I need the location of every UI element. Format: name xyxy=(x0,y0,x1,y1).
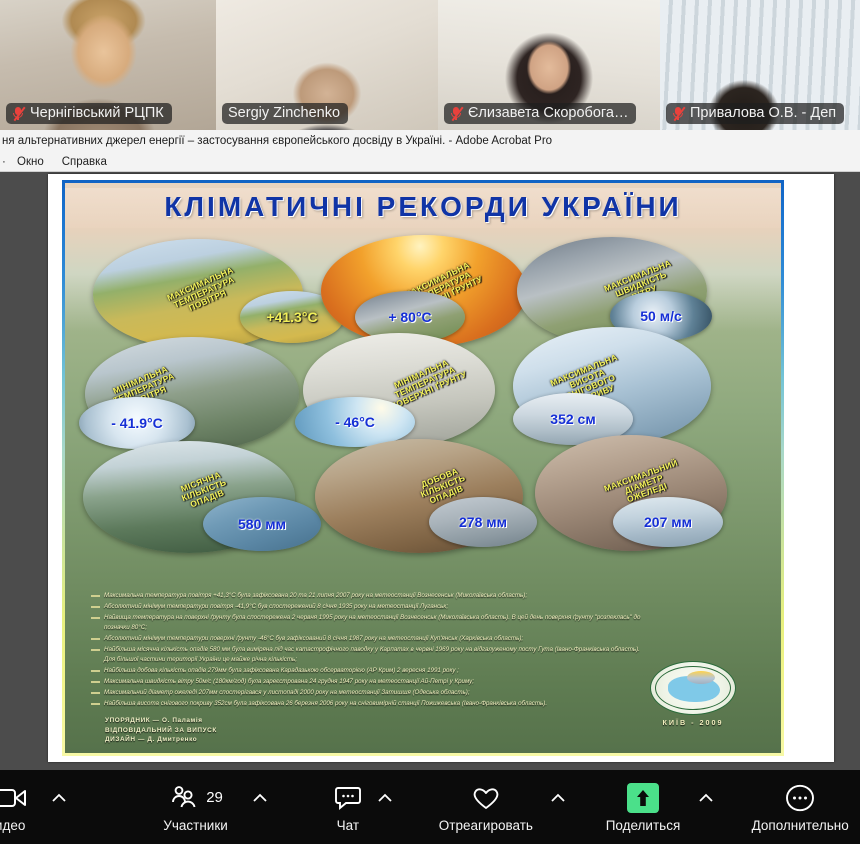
zoom-control-bar: идео 29 Участники Чат xyxy=(0,770,860,844)
participant-tile-2[interactable]: Sergiy Zinchenko xyxy=(216,0,438,130)
toolbar-label-more: Дополнительно xyxy=(752,818,849,833)
credit-line: ДИЗАЙН — Д. Дмитренко xyxy=(105,735,217,745)
acrobat-menu-bar: · Окно Справка xyxy=(0,152,860,172)
bullet-item: Найбільша висота снігового покриву 352см… xyxy=(91,699,651,709)
video-camera-icon xyxy=(0,782,28,814)
toolbar-label-participants: Участники xyxy=(163,818,228,833)
bullet-item: Абсолютний мінімум температури повітря -… xyxy=(91,602,651,612)
menu-item-window[interactable]: Окно xyxy=(8,153,53,171)
participant-video-strip: Чернігівський РЦПК Sergiy Zinchenko Єлиз… xyxy=(0,0,860,130)
bullet-item: Максимальний діаметр ожеледі 207мм спост… xyxy=(91,688,651,698)
record-value-text: + 80°C xyxy=(388,309,431,325)
chevron-up-icon-video[interactable] xyxy=(48,770,69,844)
record-value-text: 50 м/с xyxy=(640,308,682,324)
record-value: 207 мм xyxy=(613,497,723,547)
record-value: 580 мм xyxy=(203,497,321,551)
toolbar-button-share[interactable]: Поделиться xyxy=(591,770,695,844)
bullet-item: Абсолютний мінімум температури поверхні … xyxy=(91,634,651,644)
shared-screen-acrobat: ня альтернативних джерел енергії – засто… xyxy=(0,130,860,770)
participants-count: 29 xyxy=(206,789,223,806)
chevron-up-icon-participants[interactable] xyxy=(250,770,271,844)
records-grid: МАКСИМАЛЬНА ТЕМПЕРАТУРА ПОВІТРЯ +41.3°C … xyxy=(65,229,781,589)
bullet-item: Максимальна температура повітря +41,3°С … xyxy=(91,591,651,601)
participant-name: Єлизавета Скоробога… xyxy=(468,105,628,121)
chat-bubble-icon xyxy=(334,782,362,814)
chevron-up-icon-react[interactable] xyxy=(548,770,569,844)
poster-frame: КЛІМАТИЧНІ РЕКОРДИ УКРАЇНИ МАКСИМАЛЬНА Т… xyxy=(62,180,784,756)
poster-credits: УПОРЯДНИК — О. Паламія ВІДПОВІДАЛЬНИЙ ЗА… xyxy=(105,716,217,745)
microphone-muted-icon xyxy=(450,106,463,121)
participant-tile-3[interactable]: Єлизавета Скоробога… xyxy=(438,0,660,130)
credit-line: ВІДПОВІДАЛЬНИЙ ЗА ВИПУСК xyxy=(105,726,217,736)
toolbar-label-video: идео xyxy=(0,818,25,833)
participant-name-badge: Чернігівський РЦПК xyxy=(6,103,172,124)
participant-name: Привалова О.В. - Деп xyxy=(690,105,836,121)
microphone-muted-icon xyxy=(12,106,25,121)
chevron-up-icon-share[interactable] xyxy=(695,770,716,844)
publisher-logo-block: КИЇВ - 2009 xyxy=(649,661,737,727)
participant-name-badge: Sergiy Zinchenko xyxy=(222,103,348,124)
participant-name-badge: Єлизавета Скоробога… xyxy=(444,103,636,124)
record-value-text: 580 мм xyxy=(238,516,286,532)
chevron-up-icon-chat[interactable] xyxy=(375,770,396,844)
participant-tile-4[interactable]: Привалова О.В. - Деп xyxy=(660,0,860,130)
ellipsis-icon xyxy=(785,782,815,814)
hydrometeorological-center-logo-icon xyxy=(650,661,736,715)
toolbar-button-video[interactable]: идео xyxy=(0,770,34,844)
toolbar-label-react: Отреагировать xyxy=(439,818,533,833)
records-bullet-list: Максимальна температура повітря +41,3°С … xyxy=(91,591,651,711)
bullet-item: Максимальна швидкість вітру 50м/с (180км… xyxy=(91,677,651,687)
participant-name-badge: Привалова О.В. - Деп xyxy=(666,103,844,124)
toolbar-button-more[interactable]: Дополнительно xyxy=(740,770,860,844)
zoom-meeting-window: Чернігівський РЦПК Sergiy Zinchenko Єлиз… xyxy=(0,0,860,844)
people-icon: 29 xyxy=(168,782,223,814)
toolbar-button-chat[interactable]: Чат xyxy=(321,770,375,844)
toolbar-label-chat: Чат xyxy=(337,818,359,833)
share-up-arrow-icon xyxy=(627,782,659,814)
poster-content: КЛІМАТИЧНІ РЕКОРДИ УКРАЇНИ МАКСИМАЛЬНА Т… xyxy=(65,183,781,753)
pdf-document-area[interactable]: КЛІМАТИЧНІ РЕКОРДИ УКРАЇНИ МАКСИМАЛЬНА Т… xyxy=(0,172,860,770)
record-value-text: +41.3°C xyxy=(266,309,317,325)
record-value-text: 352 см xyxy=(550,411,595,427)
record-value-text: 278 мм xyxy=(459,514,507,530)
logo-caption: КИЇВ - 2009 xyxy=(649,718,737,727)
menu-item-help[interactable]: Справка xyxy=(53,153,116,171)
acrobat-title-bar: ня альтернативних джерел енергії – засто… xyxy=(0,130,860,152)
poster-title: КЛІМАТИЧНІ РЕКОРДИ УКРАЇНИ xyxy=(65,188,781,228)
participant-name: Чернігівський РЦПК xyxy=(30,105,164,121)
bullet-item: Найбільша добова кількість опадів 279мм … xyxy=(91,666,651,676)
record-value-text: 207 мм xyxy=(644,514,692,530)
heart-icon xyxy=(471,782,501,814)
bullet-item: Найвища температура на поверхні ґрунту б… xyxy=(91,613,651,633)
participant-name: Sergiy Zinchenko xyxy=(228,105,340,121)
record-value-text: - 46°C xyxy=(335,414,375,430)
microphone-muted-icon xyxy=(672,106,685,121)
credit-line: УПОРЯДНИК — О. Паламія xyxy=(105,716,217,726)
record-value: 278 мм xyxy=(429,497,537,547)
pdf-page: КЛІМАТИЧНІ РЕКОРДИ УКРАЇНИ МАКСИМАЛЬНА Т… xyxy=(48,174,834,762)
bullet-item: Найбільша місячна кількість опадів 580 м… xyxy=(91,645,651,665)
toolbar-label-share: Поделиться xyxy=(606,818,681,833)
toolbar-button-react[interactable]: Отреагировать xyxy=(424,770,548,844)
participant-tile-1[interactable]: Чернігівський РЦПК xyxy=(0,0,216,130)
toolbar-button-participants[interactable]: 29 Участники xyxy=(141,770,249,844)
record-value-text: - 41.9°C xyxy=(111,415,163,431)
